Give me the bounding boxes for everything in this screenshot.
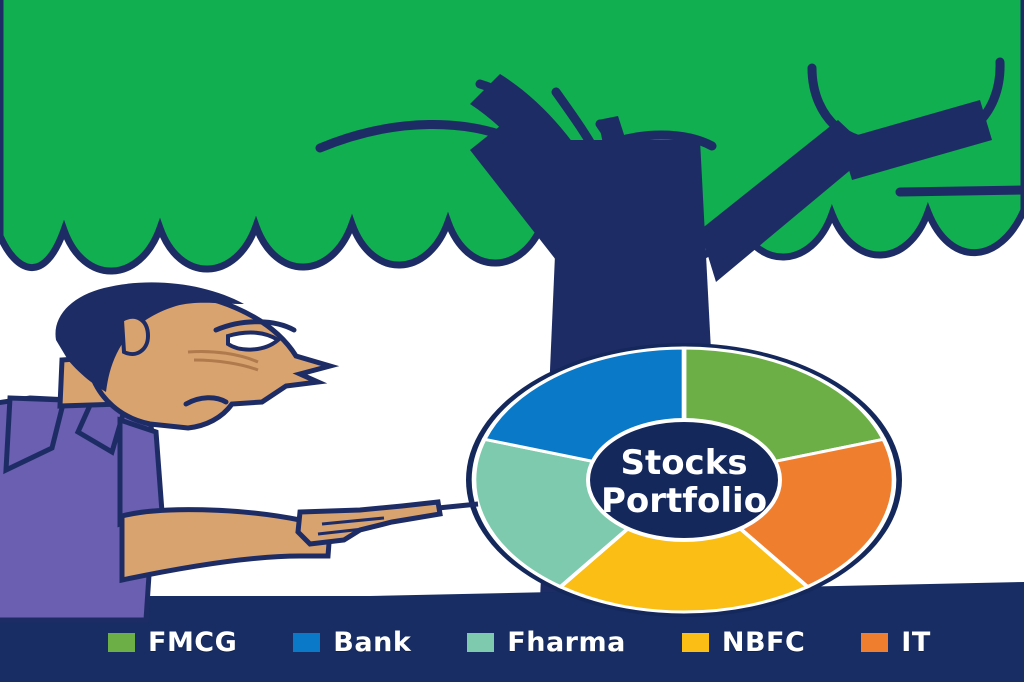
chart-legend: FMCG Bank Fharma NBFC IT xyxy=(0,602,1024,682)
twig-far-right-horizontal xyxy=(900,190,1024,192)
eye xyxy=(228,333,278,350)
legend-label-fmcg: FMCG xyxy=(148,627,237,658)
legend-item-fharma[interactable]: Fharma xyxy=(467,627,626,658)
legend-item-fmcg[interactable]: FMCG xyxy=(108,627,237,658)
legend-item-nbfc[interactable]: NBFC xyxy=(682,627,805,658)
legend-label-nbfc: NBFC xyxy=(722,627,805,658)
center-label-line2: Portfolio xyxy=(601,481,767,521)
legend-label-fharma: Fharma xyxy=(507,627,626,658)
legend-label-it: IT xyxy=(901,627,930,658)
stocks-portfolio-illustration: Stocks Portfolio xyxy=(0,0,1024,682)
legend-item-bank[interactable]: Bank xyxy=(293,627,411,658)
legend-label-bank: Bank xyxy=(333,627,411,658)
legend-swatch-fmcg xyxy=(108,633,135,652)
center-label-line1: Stocks xyxy=(620,443,747,483)
legend-item-it[interactable]: IT xyxy=(861,627,930,658)
legend-swatch-it xyxy=(861,633,888,652)
ear xyxy=(122,317,148,354)
donut-chart: Stocks Portfolio xyxy=(466,343,902,617)
legend-swatch-fharma xyxy=(467,633,494,652)
legend-swatch-bank xyxy=(293,633,320,652)
legend-swatch-nbfc xyxy=(682,633,709,652)
illustration-canvas: Stocks Portfolio xyxy=(0,0,1024,682)
